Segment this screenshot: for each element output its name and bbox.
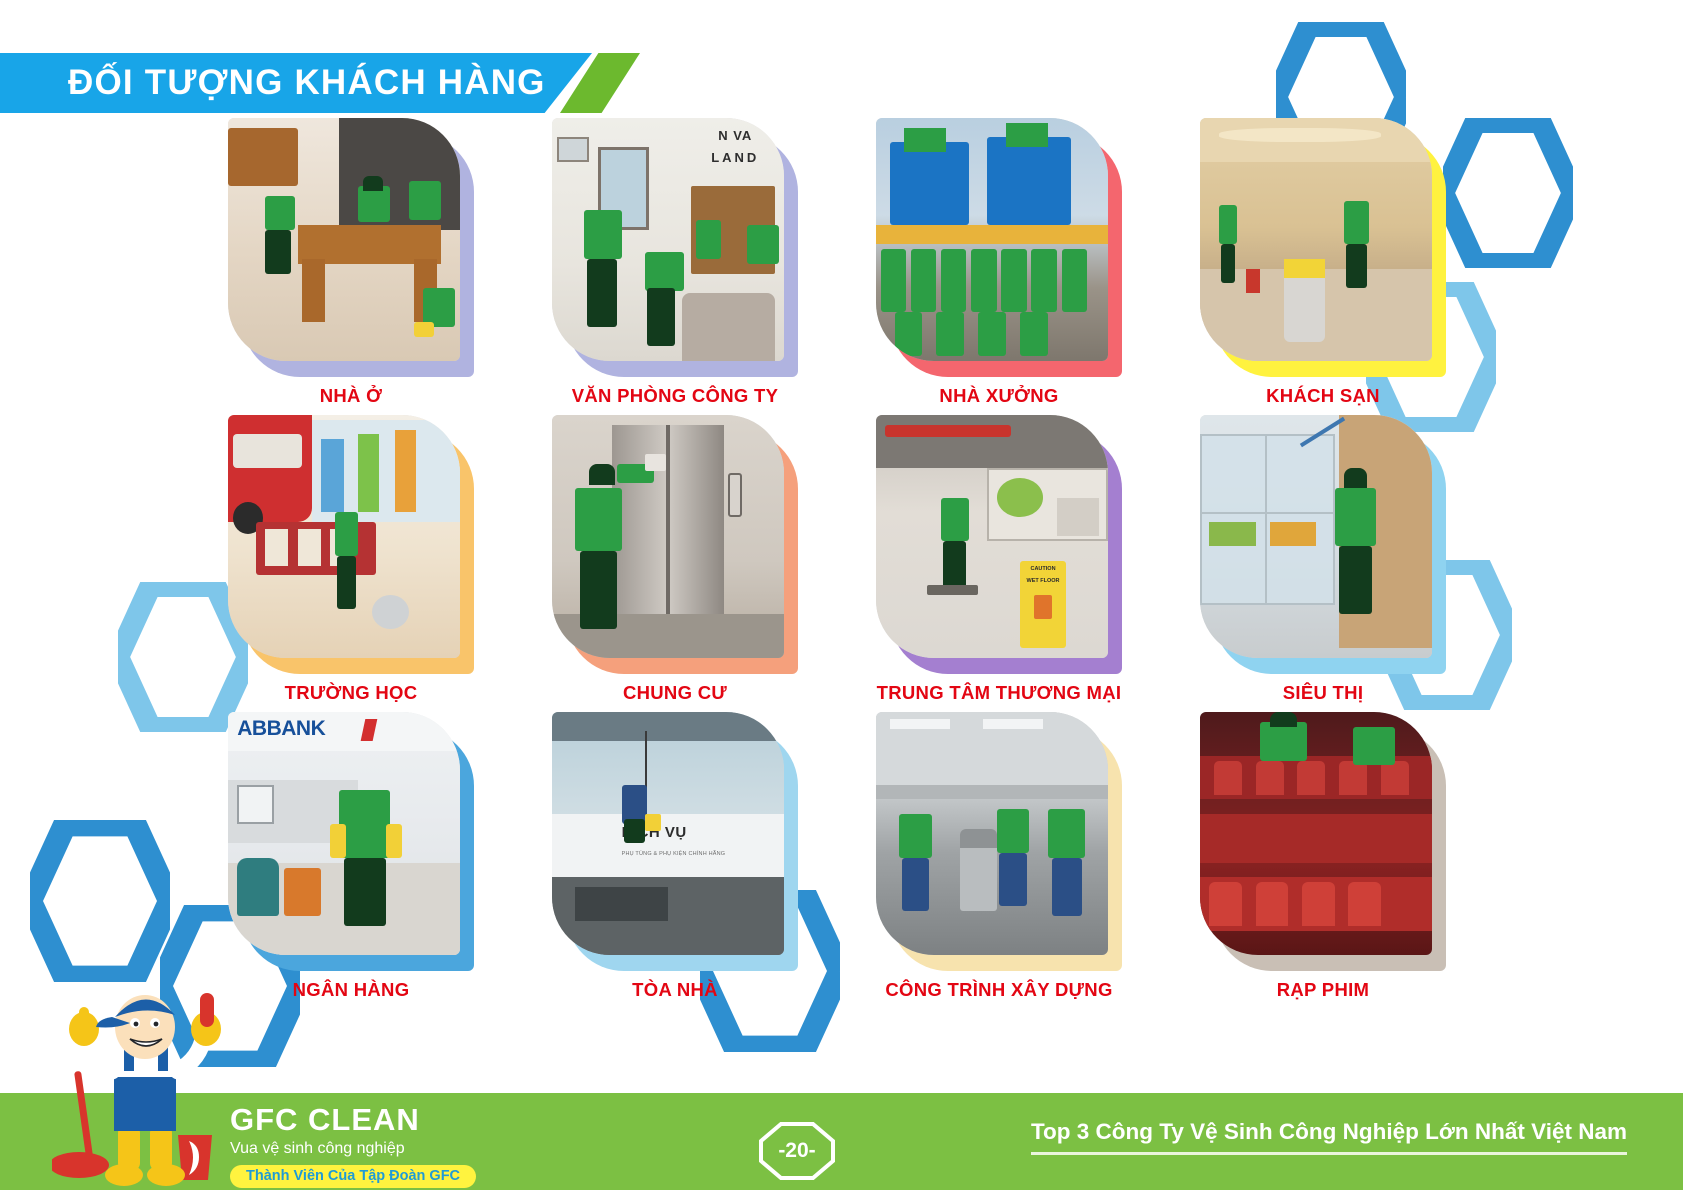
card-photo-bank-abbank: ABBANK [228, 712, 460, 955]
hexagon-decor-bottom-left [30, 820, 170, 982]
footer-brand-block: GFC CLEAN Vua vệ sinh công nghiệp Thành … [230, 1103, 650, 1188]
grid-row: TRƯỜNG HỌC [228, 415, 1446, 704]
card-photo-building-rope-access: DỊCH VỤ PHỤ TÙNG & PHỤ KIỆN CHÍNH HÃNG [552, 712, 784, 955]
grid-row: ABBANK NGÂN HÀNG [228, 712, 1446, 1001]
footer-slogan-text: Top 3 Công Ty Vệ Sinh Công Nghiệp Lớn Nh… [1031, 1119, 1627, 1145]
segment-card-sieu-thi[interactable]: SIÊU THỊ [1200, 415, 1446, 704]
segment-card-chung-cu[interactable]: CHUNG CƯ [552, 415, 798, 704]
dichvu-sign-line2: PHỤ TÙNG & PHỤ KIỆN CHÍNH HÃNG [622, 851, 726, 857]
card-photo-house-dining-room [228, 118, 460, 361]
wet-floor-sign-line2: WET FLOOR [1020, 578, 1066, 584]
card-photo-school-playroom [228, 415, 460, 658]
segment-card-van-phong-cong-ty[interactable]: N VA LAND VĂN PHÒNG CÔNG TY [552, 118, 798, 407]
segment-card-trung-tam-thuong-mai[interactable]: CAUTION WET FLOOR TRUNG TÂM THƯƠNG MẠI [876, 415, 1122, 704]
mascot-cleaner-character [52, 985, 242, 1190]
card-label: TÒA NHÀ [552, 979, 798, 1001]
card-label: KHÁCH SẠN [1200, 385, 1446, 407]
novaland-logo-line1: N VA [696, 128, 775, 143]
wet-floor-sign-line1: CAUTION [1020, 566, 1066, 572]
card-label: TRUNG TÂM THƯƠNG MẠI [876, 682, 1122, 704]
card-label: NHÀ XƯỞNG [876, 385, 1122, 407]
segment-card-nha-o[interactable]: NHÀ Ở [228, 118, 474, 407]
card-label: CHUNG CƯ [552, 682, 798, 704]
card-label: RẠP PHIM [1200, 979, 1446, 1001]
card-photo-novaland-office: N VA LAND [552, 118, 784, 361]
grid-row: NHÀ Ở N VA LAND [228, 118, 1446, 407]
card-label: SIÊU THỊ [1200, 682, 1446, 704]
novaland-logo-line2: LAND [696, 150, 775, 165]
header-banner: ĐỐI TƯỢNG KHÁCH HÀNG [0, 53, 640, 113]
card-label: NHÀ Ở [228, 385, 474, 407]
card-label: NGÂN HÀNG [228, 979, 474, 1001]
brand-name: GFC CLEAN [230, 1103, 650, 1137]
brand-tagline: Vua vệ sinh công nghiệp [230, 1138, 650, 1160]
footer-slogan-block: Top 3 Công Ty Vệ Sinh Công Nghiệp Lớn Nh… [1031, 1119, 1627, 1155]
card-label: TRƯỜNG HỌC [228, 682, 474, 704]
segment-card-toa-nha[interactable]: DỊCH VỤ PHỤ TÙNG & PHỤ KIỆN CHÍNH HÃNG T… [552, 712, 798, 1001]
footer-slogan-underline [1031, 1152, 1627, 1155]
brand-membership-badge: Thành Viên Của Tập Đoàn GFC [230, 1165, 476, 1188]
segment-card-rap-phim[interactable]: RẠP PHIM [1200, 712, 1446, 1001]
page-number-text: -20- [758, 1121, 836, 1181]
segment-card-cong-trinh-xay-dung[interactable]: CÔNG TRÌNH XÂY DỰNG [876, 712, 1122, 1001]
abbank-logo: ABBANK [237, 717, 325, 741]
segment-card-ngan-hang[interactable]: ABBANK NGÂN HÀNG [228, 712, 474, 1001]
card-photo-cinema-seats [1200, 712, 1432, 955]
card-photo-mall-wet-floor: CAUTION WET FLOOR [876, 415, 1108, 658]
card-photo-construction-warehouse [876, 712, 1108, 955]
page-number-badge: -20- [758, 1121, 836, 1181]
customer-segments-grid: NHÀ Ở N VA LAND [228, 118, 1446, 1009]
card-label: VĂN PHÒNG CÔNG TY [552, 385, 798, 407]
card-photo-hotel-corridor [1200, 118, 1432, 361]
segment-card-khach-san[interactable]: KHÁCH SẠN [1200, 118, 1446, 407]
footer-bar: GFC CLEAN Vua vệ sinh công nghiệp Thành … [0, 1093, 1683, 1190]
card-label: CÔNG TRÌNH XÂY DỰNG [876, 979, 1122, 1001]
card-photo-supermarket-glass [1200, 415, 1432, 658]
card-photo-factory-team-lifts [876, 118, 1108, 361]
segment-card-nha-xuong[interactable]: NHÀ XƯỞNG [876, 118, 1122, 407]
page-title: ĐỐI TƯỢNG KHÁCH HÀNG [68, 53, 546, 113]
hexagon-decor-top-right-2 [1443, 118, 1573, 268]
slide-root: ĐỐI TƯỢNG KHÁCH HÀNG [0, 0, 1683, 1190]
segment-card-truong-hoc[interactable]: TRƯỜNG HỌC [228, 415, 474, 704]
card-photo-apartment-elevator [552, 415, 784, 658]
